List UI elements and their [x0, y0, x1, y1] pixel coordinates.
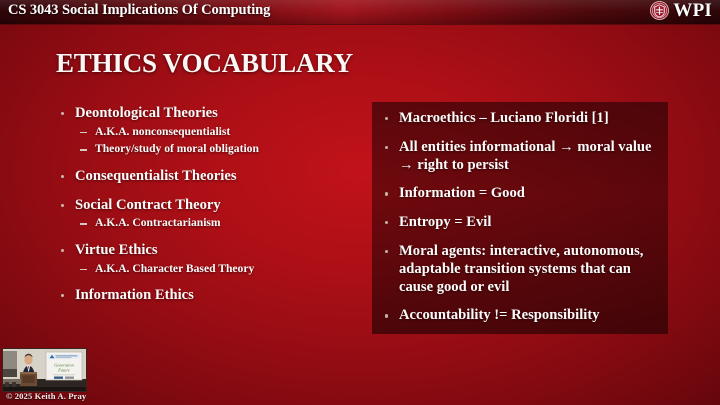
sub-bullet-item: A.K.A. nonconsequentialist [55, 125, 360, 139]
bullet-item: Virtue Ethics [55, 242, 360, 260]
slide-title: ETHICS VOCABULARY [56, 48, 353, 79]
sub-bullet-item: A.K.A. Character Based Theory [55, 262, 360, 276]
right-bullet-list: Macroethics – Luciano Floridi [1] All en… [380, 110, 658, 325]
bullet-item: Moral agents: interactive, autonomous, a… [380, 243, 658, 296]
bullet-item: Accountability != Responsibility [380, 307, 658, 325]
wpi-seal-icon [650, 1, 669, 20]
right-content-panel: Macroethics – Luciano Floridi [1] All en… [372, 102, 668, 334]
copyright-footer: © 2025 Keith A. Pray [6, 391, 86, 401]
sub-bullet-item: Theory/study of moral obligation [55, 142, 360, 156]
slide-header-bar: CS 3043 Social Implications Of Computing… [0, 0, 720, 25]
presenter-video-frame: Generation Future [3, 349, 86, 391]
sub-bullet-item: A.K.A. Contractarianism [55, 216, 360, 230]
left-content-column: Deontological Theories A.K.A. nonconsequ… [55, 105, 360, 312]
wpi-logo: WPI [650, 1, 712, 20]
presenter-video-thumbnail[interactable]: Generation Future [2, 348, 87, 392]
course-title: CS 3043 Social Implications Of Computing [8, 2, 270, 19]
presentation-slide: CS 3043 Social Implications Of Computing… [0, 0, 720, 405]
bullet-item: Consequentialist Theories [55, 168, 360, 186]
bullet-item: Macroethics – Luciano Floridi [1] [380, 110, 658, 128]
bullet-item: Entropy = Evil [380, 214, 658, 232]
bullet-item: Deontological Theories [55, 105, 360, 123]
bullet-item: Information Ethics [55, 287, 360, 305]
wpi-wordmark: WPI [673, 1, 712, 20]
bullet-item: Information = Good [380, 185, 658, 203]
left-bullet-list: Deontological Theories A.K.A. nonconsequ… [55, 105, 360, 305]
bullet-item: Social Contract Theory [55, 197, 360, 215]
bullet-item: All entities informational → moral value… [380, 139, 658, 175]
svg-text:Future: Future [57, 368, 70, 373]
